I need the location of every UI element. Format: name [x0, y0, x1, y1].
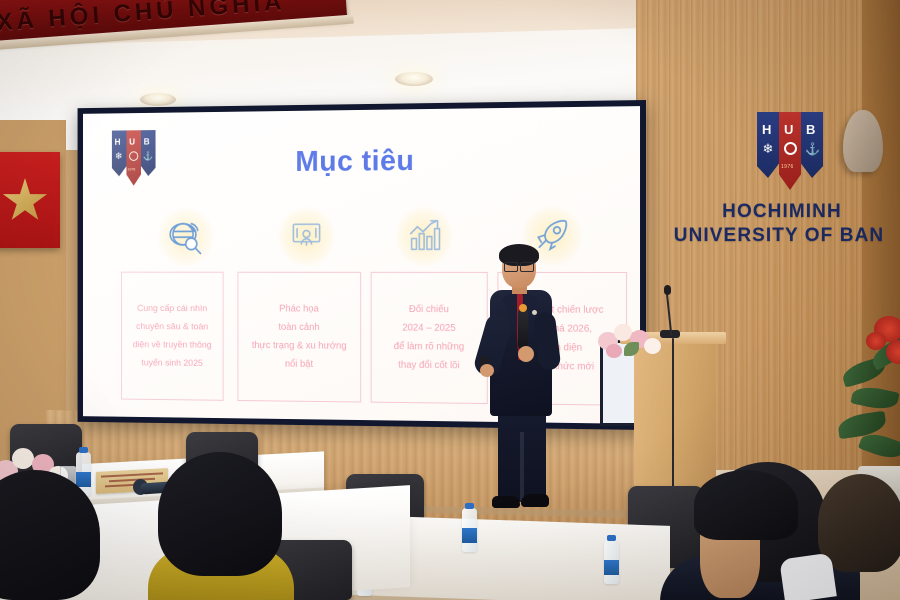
logo-letter-h: H [115, 137, 121, 147]
globe-search-icon [136, 206, 237, 268]
eyeglasses-bridge [516, 265, 521, 266]
bottle-cap [79, 447, 88, 453]
presenter-hand [518, 346, 534, 362]
objective-box-1: Cung cấp cái nhìn chuyên sâu & toàn diện… [121, 272, 224, 401]
box-line: Cung cấp cái nhìn [137, 303, 207, 314]
eyeglasses-icon [504, 262, 518, 272]
microphone-indicator [519, 304, 527, 312]
box-line: tuyển sinh 2025 [141, 358, 202, 369]
box-line: nổi bật [285, 359, 313, 370]
box-line: chuyên sâu & toàn [136, 321, 208, 332]
presenter-person [466, 246, 578, 514]
logo-letter-h: H [762, 122, 771, 137]
box-line: thực trạng & xu hướng [252, 340, 347, 351]
hub-wall-logo: H U B ❄ ⚓ 1976 [757, 112, 823, 190]
wall-university-name: HOCHIMINH UNIVERSITY OF BAN [664, 200, 900, 248]
snowflake-icon: ❄ [761, 142, 775, 156]
logo-letter-b: B [806, 122, 815, 137]
logo-letter-u: U [784, 122, 793, 137]
wall-name-line1: HOCHIMINH [664, 200, 900, 224]
podium [634, 340, 716, 500]
gold-star-icon [2, 178, 48, 224]
bottle-label [604, 560, 619, 575]
handheld-microphone-icon [518, 308, 528, 350]
audience-member [818, 474, 900, 572]
wall-name-line2: UNIVERSITY OF BAN [658, 224, 900, 248]
conference-room-photo: XÃ HỘI CHỦ NGHĨA H U B ❄ ⚓ 1976 HOCHIMIN… [0, 0, 900, 600]
gooseneck-microphone-icon [664, 285, 671, 295]
water-bottle [604, 540, 619, 584]
audience-member-hair [694, 470, 798, 540]
bottle-label [76, 472, 91, 487]
ship-icon: ⚓ [805, 142, 819, 156]
audience-member-collar [779, 553, 837, 600]
vietnam-flag [0, 152, 60, 248]
podium-flower-arrangement [596, 318, 666, 360]
eyeglasses-icon [520, 262, 534, 272]
logo-year: 1976 [781, 164, 794, 170]
water-bottle [462, 508, 477, 552]
mic-cable [672, 338, 674, 488]
ceiling-downlight [140, 93, 176, 106]
ceiling-downlight [395, 72, 433, 86]
presenter-trouser-seam [520, 432, 524, 502]
box-line: để làm rõ những [394, 341, 464, 352]
bar-chart-growth-icon [372, 205, 477, 268]
bottle-cap [607, 535, 616, 541]
box-line: thay đổi cốt lõi [398, 360, 459, 371]
box-line: diện về truyền thông [133, 339, 212, 350]
box-line: toàn cảnh [278, 322, 319, 333]
logo-letter-u: U [129, 137, 135, 147]
presenter-shoe [521, 494, 549, 507]
box-line: Đối chiếu [409, 304, 449, 315]
bottle-cap [465, 503, 474, 509]
presenter-shoe [492, 496, 520, 508]
presenter-hand [480, 364, 494, 377]
slide-title: Mục tiêu [83, 142, 640, 180]
logo-letter-b: B [144, 137, 150, 147]
compass-icon [784, 142, 797, 155]
presentation-speaker-icon [255, 206, 358, 268]
box-line: 2024 – 2025 [402, 323, 455, 334]
box-line: Phác họa [279, 304, 319, 315]
bottle-label [462, 528, 477, 543]
objective-box-2: Phác họa toàn cảnh thực trạng & xu hướng… [237, 272, 361, 403]
audience-member [158, 452, 282, 576]
